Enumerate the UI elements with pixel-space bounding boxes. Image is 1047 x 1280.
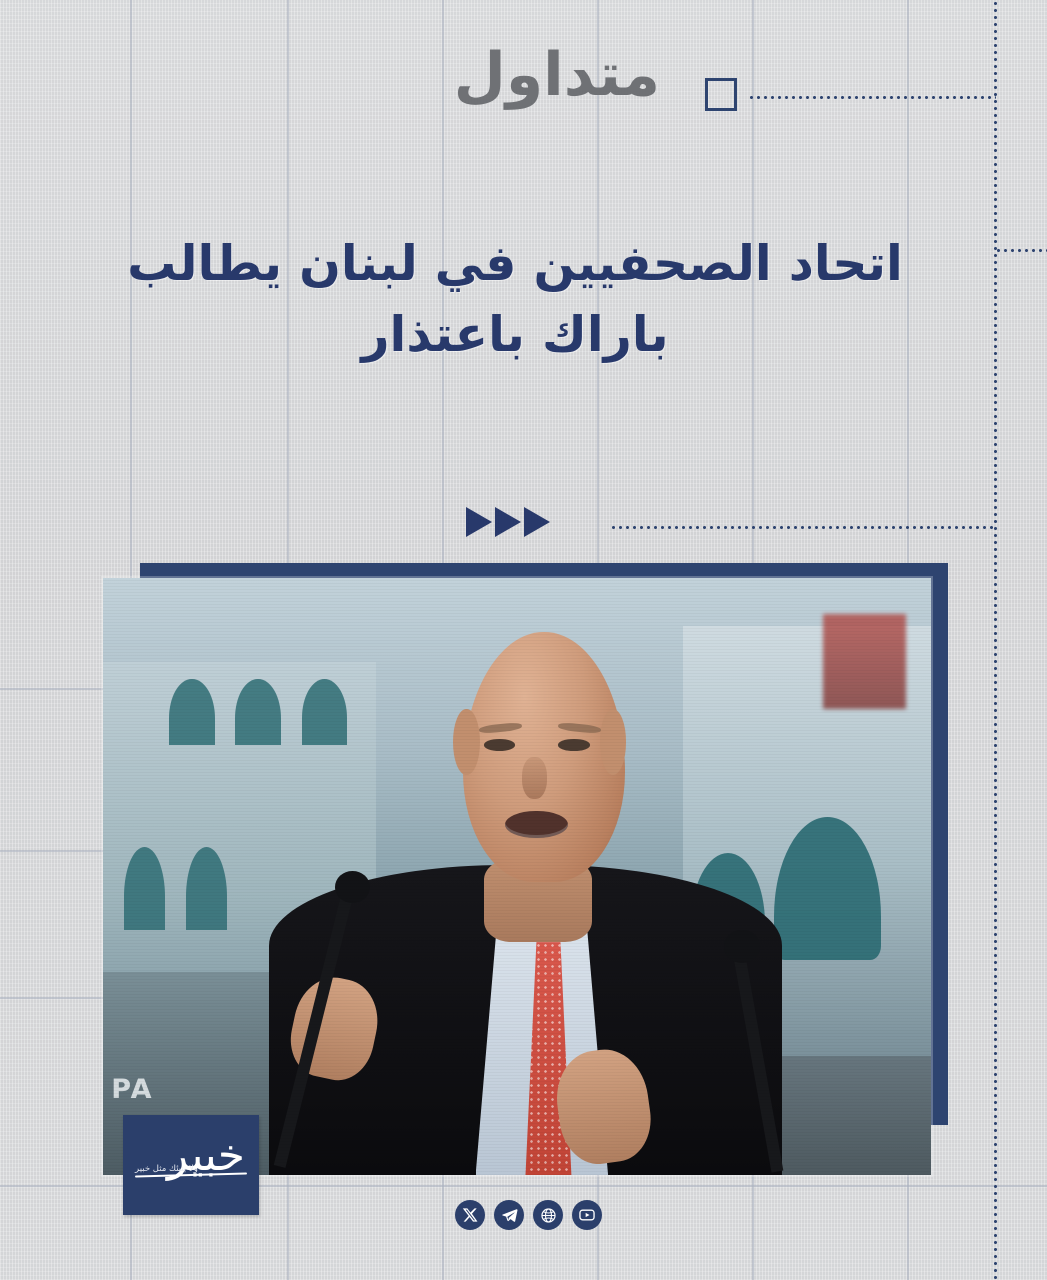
photo-sign-text: PA <box>111 1074 153 1105</box>
chevron-arrows-group <box>466 507 550 537</box>
poster-canvas: متداول اتحاد الصحفيين في لبنان يطالب بار… <box>0 0 1047 1280</box>
square-outline-marker-icon <box>705 78 737 111</box>
photo-arch-icon <box>235 679 281 745</box>
telegram-icon[interactable] <box>494 1200 524 1230</box>
brand-logo-inner: خبير ولا ينبئك مثل خبير <box>131 1130 251 1200</box>
headline-line-1: اتحاد الصحفيين في لبنان يطالب <box>70 228 960 299</box>
social-links-bar <box>455 1200 602 1230</box>
website-globe-icon[interactable] <box>533 1200 563 1230</box>
brand-logo[interactable]: خبير ولا ينبئك مثل خبير <box>123 1115 259 1215</box>
dotted-guide-horizontal <box>748 96 996 99</box>
dotted-guide-vertical <box>994 0 997 1280</box>
headline-line-2: باراك باعتذار <box>70 299 960 370</box>
x-twitter-icon[interactable] <box>455 1200 485 1230</box>
news-photo: PA <box>103 578 931 1175</box>
dotted-guide-horizontal <box>995 249 1047 252</box>
page-title: اتحاد الصحفيين في لبنان يطالب باراك باعت… <box>70 228 960 370</box>
chevron-right-icon <box>466 507 492 537</box>
grid-line-horizontal <box>0 688 104 690</box>
photo-subject-ear <box>600 709 626 775</box>
photo-microphone-head-icon <box>724 930 760 963</box>
kicker-label: متداول <box>0 42 660 108</box>
photo-subject-mouth <box>505 811 567 838</box>
youtube-icon[interactable] <box>572 1200 602 1230</box>
grid-line-horizontal <box>0 997 104 999</box>
chevron-right-icon <box>524 507 550 537</box>
photo-arch-icon <box>169 679 215 745</box>
grid-line-horizontal <box>0 850 104 852</box>
photo-subject-eye <box>558 739 589 750</box>
dotted-guide-horizontal <box>610 526 996 529</box>
chevron-right-icon <box>495 507 521 537</box>
photo-flag <box>823 614 906 710</box>
brand-logo-tagline: ولا ينبئك مثل خبير <box>135 1164 198 1174</box>
photo-subject-nose <box>522 757 547 799</box>
photo-subject-eye <box>484 739 515 750</box>
photo-subject-ear <box>453 709 479 775</box>
